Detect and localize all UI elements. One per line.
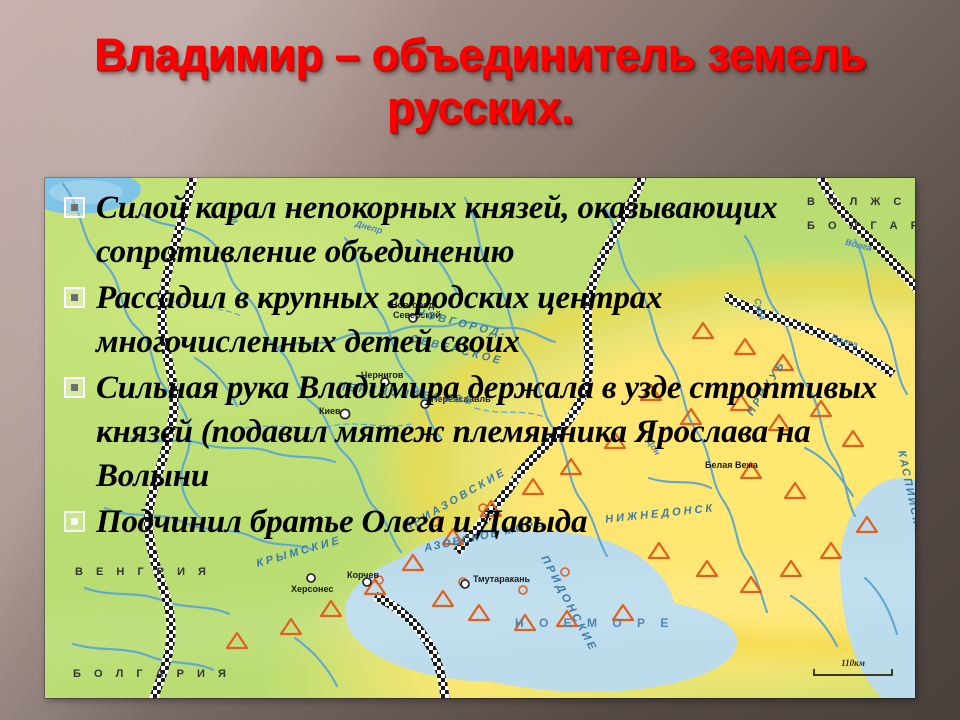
bullet-list: Силой карал непокорных князей, оказывающ…: [64, 186, 894, 546]
list-item[interactable]: Силой карал непокорных князей, оказывающ…: [64, 186, 894, 274]
bullet-text: Силой карал непокорных князей, оказывающ…: [96, 186, 894, 274]
slide-title: Владимир – объединитель земель русских.: [40, 28, 920, 134]
map-scale-bar: 110км: [813, 658, 893, 676]
presentation-slide: Владимир – объединитель земель русских.: [0, 0, 960, 720]
bullet-text: Сильная рука Владимира держала в узде ст…: [96, 366, 894, 498]
map-scale-line: [813, 669, 893, 676]
square-bullet-icon: [64, 197, 85, 218]
square-bullet-icon: [64, 377, 85, 398]
map-scale-label: 110км: [813, 658, 893, 668]
list-item[interactable]: Рассадил в крупных городских центрах мно…: [64, 276, 894, 364]
bullet-text: Подчинил братье Олега и Давыда: [96, 500, 894, 544]
bullet-text: Рассадил в крупных городских центрах мно…: [96, 276, 894, 364]
square-bullet-icon: [64, 287, 85, 308]
list-item[interactable]: Подчинил братье Олега и Давыда: [64, 500, 894, 544]
square-bullet-icon: [64, 511, 85, 532]
list-item[interactable]: Сильная рука Владимира держала в узде ст…: [64, 366, 894, 498]
